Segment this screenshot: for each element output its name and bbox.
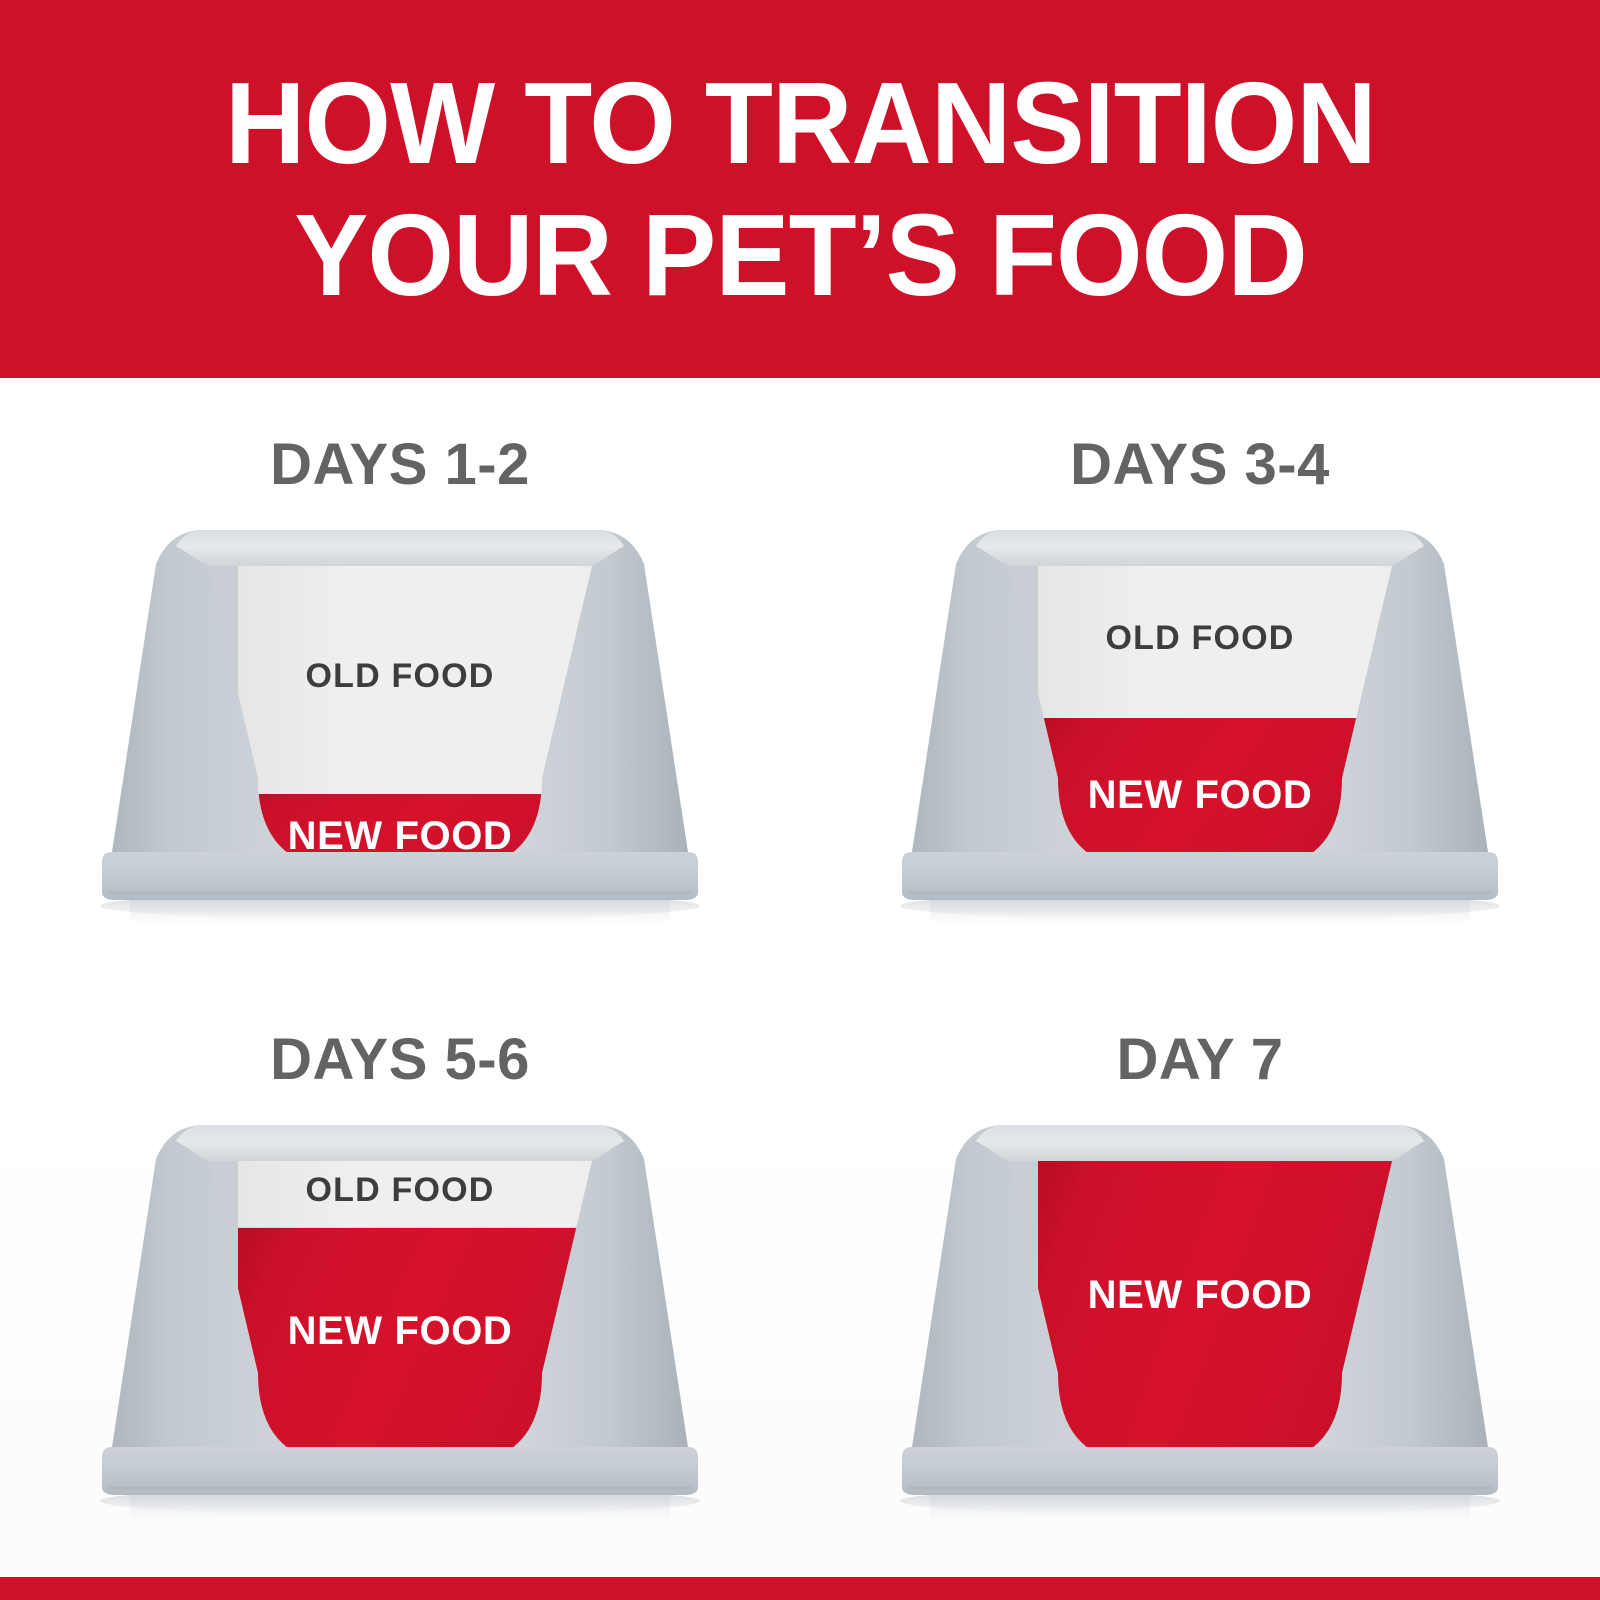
footer-bar	[0, 1577, 1600, 1600]
bowl-rim	[976, 1125, 1424, 1161]
step-panel-days-3-4: DAYS 3-4	[800, 378, 1600, 978]
food-bowl-day-7: OLD FOOD NEW FOOD	[890, 1117, 1510, 1517]
content-area: DAYS 1-2	[0, 378, 1600, 1577]
food-bowl-days-3-4: OLD FOOD NEW FOOD	[890, 522, 1510, 922]
step-panel-days-1-2: DAYS 1-2	[0, 378, 800, 978]
bowl-graphic	[90, 522, 710, 922]
step-label-days-3-4: DAYS 3-4	[1070, 431, 1330, 498]
bowl-graphic	[90, 1117, 710, 1517]
transition-steps-grid: DAYS 1-2	[0, 378, 1600, 1577]
header-banner: HOW TO TRANSITION YOUR PET’S FOOD	[0, 0, 1600, 378]
food-bowl-days-1-2: OLD FOOD NEW FOOD	[90, 522, 710, 922]
bowl-graphic	[890, 1117, 1510, 1517]
bowl-reflection	[930, 900, 1470, 922]
bowl-rim	[176, 1125, 624, 1161]
step-panel-days-5-6: DAYS 5-6	[0, 978, 800, 1578]
bowl-reflection	[130, 1495, 670, 1517]
bowl-reflection	[930, 1495, 1470, 1517]
step-label-days-5-6: DAYS 5-6	[270, 1026, 530, 1093]
step-panel-day-7: DAY 7	[800, 978, 1600, 1578]
step-label-day-7: DAY 7	[1117, 1026, 1284, 1093]
page-title-line-2: YOUR PET’S FOOD	[294, 197, 1307, 313]
bowl-reflection	[130, 900, 670, 922]
bowl-rim	[976, 530, 1424, 566]
bowl-graphic	[890, 522, 1510, 922]
bowl-rim	[176, 530, 624, 566]
page-title-line-1: HOW TO TRANSITION	[225, 65, 1376, 181]
food-bowl-days-5-6: OLD FOOD NEW FOOD	[90, 1117, 710, 1517]
step-label-days-1-2: DAYS 1-2	[270, 431, 530, 498]
